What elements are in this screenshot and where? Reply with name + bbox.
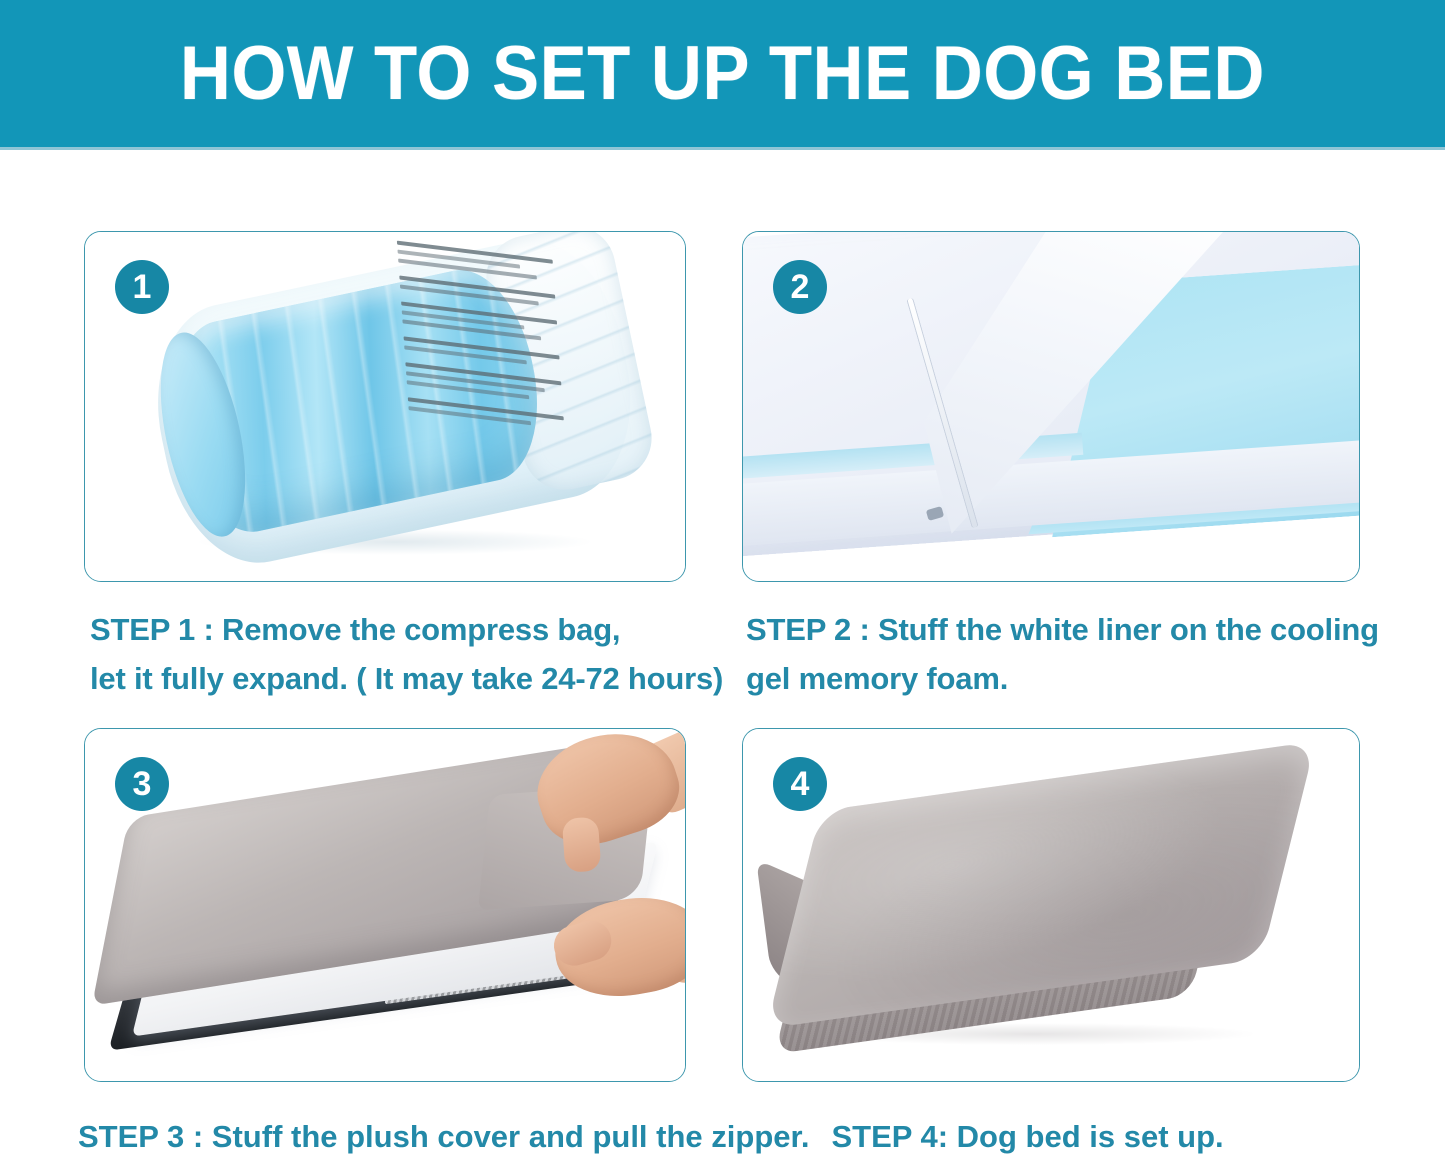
step-panel-3: 3 — [84, 728, 686, 1082]
step-panel-4: 4 — [742, 728, 1360, 1082]
step-3-illustration — [85, 729, 685, 1081]
step-badge-2: 2 — [773, 260, 827, 314]
bottom-captions: STEP 3 : Stuff the plush cover and pull … — [78, 1118, 1418, 1155]
step-1-illustration — [85, 232, 685, 581]
step-2-illustration — [743, 232, 1359, 581]
page-title: HOW TO SET UP THE DOG BED — [180, 36, 1265, 112]
step-badge-4: 4 — [773, 757, 827, 811]
warning-label-text — [397, 241, 623, 484]
step-panel-1: 1 — [84, 231, 686, 582]
step-4-caption: STEP 4: Dog bed is set up. — [831, 1118, 1223, 1155]
step-4-illustration — [743, 729, 1359, 1081]
step-1-caption: STEP 1 : Remove the compress bag, let it… — [90, 606, 750, 704]
bed-plush-top — [766, 741, 1315, 1028]
step-badge-1: 1 — [115, 260, 169, 314]
step-3-caption: STEP 3 : Stuff the plush cover and pull … — [78, 1118, 809, 1155]
header-banner: HOW TO SET UP THE DOG BED — [0, 0, 1445, 147]
header-divider — [0, 147, 1445, 150]
finger-upper — [562, 816, 602, 872]
step-badge-3: 3 — [115, 757, 169, 811]
step-2-caption: STEP 2 : Stuff the white liner on the co… — [746, 606, 1436, 704]
step-panel-2: 2 — [742, 231, 1360, 582]
